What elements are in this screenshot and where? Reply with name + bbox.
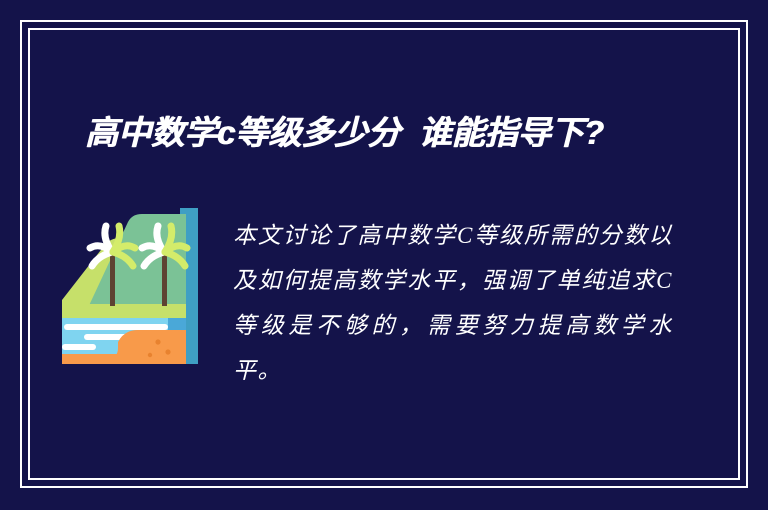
content-row: 本文讨论了高中数学C等级所需的分数以及如何提高数学水平，强调了单纯追求C等级是不… [48,195,708,395]
article-card: 高中数学c等级多少分 谁能指导下? [0,0,768,510]
beach-island-icon [62,208,198,364]
beach-island-illustration [62,208,198,364]
page-title-text: 高中数学c等级多少分 谁能指导下? [85,114,604,151]
page-title: 高中数学c等级多少分 谁能指导下? [48,62,688,203]
article-summary: 本文讨论了高中数学C等级所需的分数以及如何提高数学水平，强调了单纯追求C等级是不… [233,213,673,393]
